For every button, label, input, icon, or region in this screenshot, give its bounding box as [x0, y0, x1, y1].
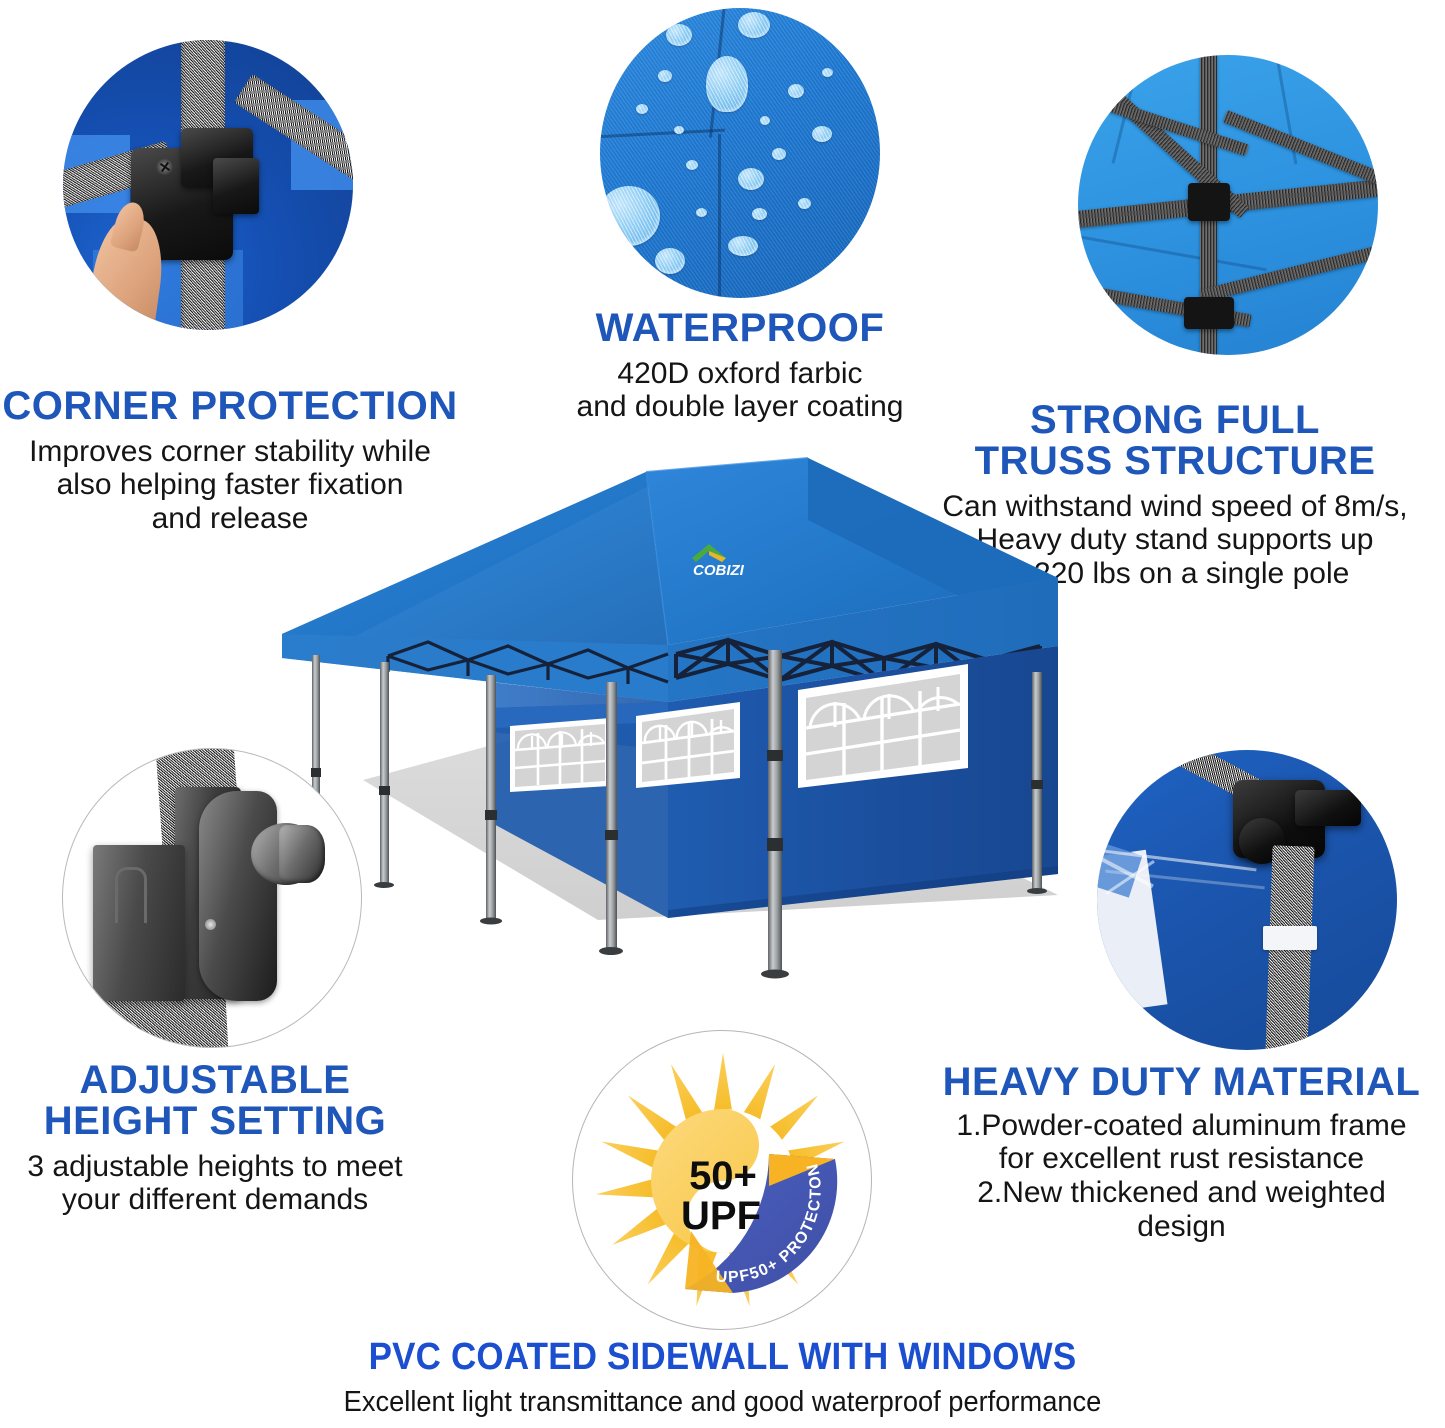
waterproof-fabric-photo — [600, 8, 880, 298]
upf-protection-badge: UPF50+ PROTECTON 50+ UPF — [572, 1030, 872, 1330]
upf-rating-text: 50+ — [689, 1154, 757, 1198]
svg-text:COBIZI: COBIZI — [693, 562, 745, 579]
heavy-duty-title: HEAVY DUTY MATERIAL — [918, 1062, 1445, 1103]
truss-structure-photo — [1078, 55, 1378, 355]
heavy-duty-material-photo — [1097, 750, 1397, 1050]
adjustable-height-desc: 3 adjustable heights to meet your differ… — [0, 1150, 430, 1217]
waterproof-title: WATERPROOF — [470, 308, 1010, 349]
upf-label-text: UPF — [681, 1194, 761, 1238]
screw-icon — [156, 158, 173, 175]
adjustable-height-title: ADJUSTABLE HEIGHT SETTING — [0, 1060, 430, 1142]
product-image-canopy-tent: COBIZI — [268, 450, 1058, 990]
footer-title: PVC COATED SIDEWALL WITH WINDOWS — [58, 1336, 1387, 1379]
heavy-duty-desc: 1.Powder-coated aluminum frame for excel… — [918, 1109, 1445, 1243]
corner-protection-photo — [63, 40, 353, 330]
height-clamp-photo — [62, 748, 362, 1048]
footer-subtitle: Excellent light transmittance and good w… — [43, 1386, 1401, 1419]
corner-protection-title: CORNER PROTECTION — [0, 386, 460, 427]
infographic-page: CORNER PROTECTION Improves corner stabil… — [0, 0, 1445, 1428]
